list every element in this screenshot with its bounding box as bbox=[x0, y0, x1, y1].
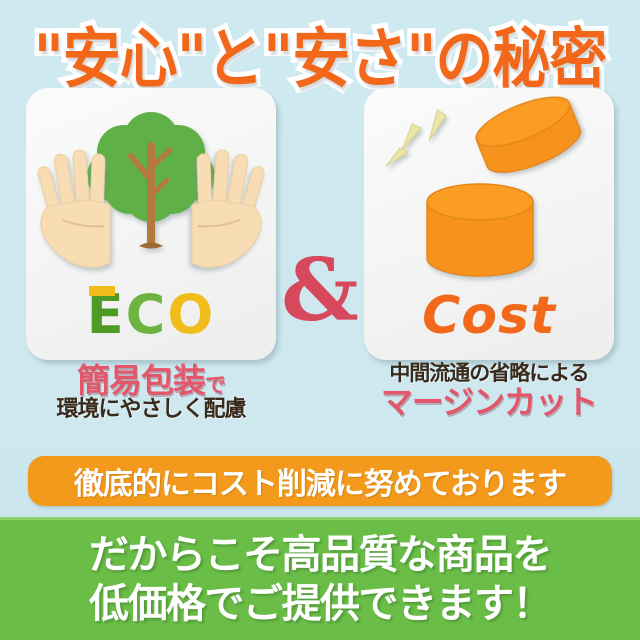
eco-letter-e: E bbox=[87, 283, 126, 346]
footer-message: だからこそ高品質な商品を 低価格でご提供できます！ bbox=[0, 517, 640, 640]
card-cost: Cost bbox=[364, 88, 614, 360]
footer-line-2: 低価格でご提供できます！ bbox=[89, 580, 551, 629]
ampersand: & bbox=[276, 248, 364, 334]
eco-letter-c: C bbox=[126, 283, 168, 346]
feature-cards: ECO bbox=[0, 88, 640, 360]
cost-reduction-banner-text: 徹底的にコスト削減に努めております bbox=[74, 459, 566, 503]
caption-left-suffix: で bbox=[205, 373, 225, 397]
eco-letter-o: O bbox=[167, 283, 215, 346]
eco-wordmark: ECO bbox=[26, 283, 276, 346]
caption-right-main: マージンカット bbox=[356, 386, 622, 419]
promo-banner: "安心"と"安さ"の秘密 bbox=[0, 0, 640, 640]
hands-holding-tree-icon bbox=[26, 94, 276, 290]
title-area: "安心"と"安さ"の秘密 bbox=[0, 6, 640, 90]
caption-right: 中間流通の省略による マージンカット bbox=[356, 362, 622, 419]
page-title: "安心"と"安さ"の秘密 bbox=[34, 6, 607, 100]
footer-line-1: だからこそ高品質な商品を bbox=[89, 531, 551, 580]
cost-cut-cylinder-icon bbox=[364, 94, 614, 290]
caption-right-sub: 中間流通の省略による bbox=[356, 362, 622, 385]
card-eco: ECO bbox=[26, 88, 276, 360]
cost-wordmark: Cost bbox=[364, 286, 614, 346]
caption-left: 簡易包装で 環境にやさしく配慮 bbox=[26, 364, 276, 423]
caption-left-main-text: 簡易包装 bbox=[77, 361, 205, 400]
caption-left-main: 簡易包装で bbox=[26, 364, 276, 398]
caption-left-sub: 環境にやさしく配慮 bbox=[26, 398, 276, 422]
cost-text: Cost bbox=[422, 286, 556, 346]
cost-reduction-banner: 徹底的にコスト削減に努めております bbox=[28, 456, 612, 506]
